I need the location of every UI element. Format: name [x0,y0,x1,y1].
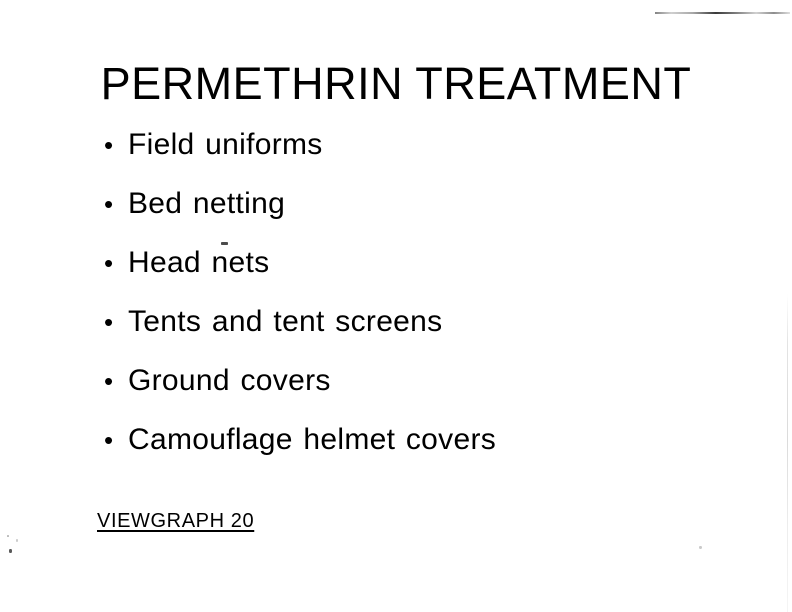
scan-speck-artifact [9,549,12,553]
scan-speck-artifact [16,539,18,542]
list-item: • Field uniforms [104,128,744,187]
scanned-viewgraph-page: PERMETHRIN TREATMENT • Field uniforms • … [0,0,792,612]
list-item: • Tents and tent screens [104,305,744,364]
list-item-label: Head nets [128,246,269,280]
scan-speck-artifact [699,546,702,549]
list-item-label: Bed netting [128,187,285,221]
bullet-list: • Field uniforms • Bed netting • Head ne… [104,128,744,482]
bullet-dot-icon: • [104,423,128,457]
viewgraph-footer-label: VIEWGRAPH 20 [97,509,254,533]
bullet-dot-icon: • [104,187,128,221]
bullet-dot-icon: • [104,128,128,162]
list-item-label: Field uniforms [128,128,323,162]
list-item-label: Tents and tent screens [128,305,442,339]
bullet-dot-icon: • [104,364,128,398]
page-title: PERMETHRIN TREATMENT [0,60,792,108]
list-item-label: Ground covers [128,364,331,398]
list-item: • Head nets [104,246,744,305]
list-item: • Camouflage helmet covers [104,423,744,482]
list-item: • Ground covers [104,364,744,423]
bullet-dot-icon: • [104,246,128,280]
list-item-label: Camouflage helmet covers [128,423,496,457]
bullet-dot-icon: • [104,305,128,339]
list-item: • Bed netting [104,187,744,246]
scan-line-artifact-top [655,12,790,14]
scan-speck-artifact [7,535,9,537]
